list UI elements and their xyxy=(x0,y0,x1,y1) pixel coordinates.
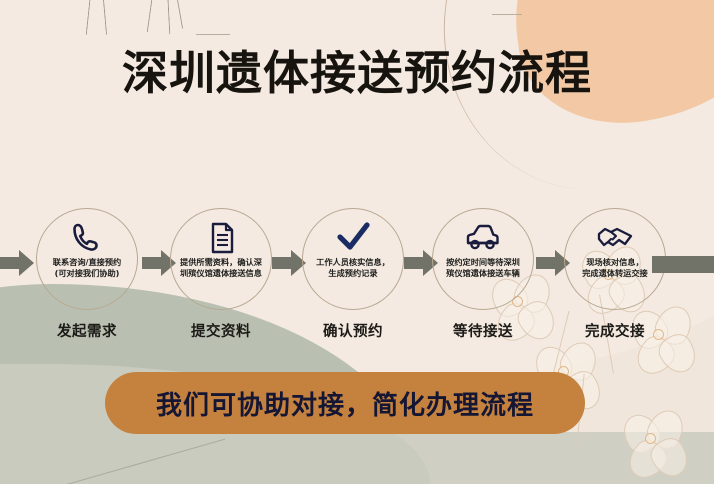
flow-step-desc-line: 联系咨询/直接预约 xyxy=(38,257,136,268)
flow-step-circle: 现场核对信息， 完成遗体转运交接 xyxy=(564,208,666,310)
flow-step-desc-line: 殡仪馆遗体接送车辆 xyxy=(434,268,532,279)
flow-step-label: 提交资料 xyxy=(168,320,274,341)
leaf-icon xyxy=(86,0,112,37)
process-flow: 联系咨询/直接预约 (可对接我们协助) 发起需求 xyxy=(0,208,714,358)
flow-step-circle: 按约定时间等待深圳 殡仪馆遗体接送车辆 xyxy=(432,208,534,310)
dash-mark xyxy=(492,14,522,15)
flow-step-desc: 提供所需资料，确认深 圳殡仪馆遗体接送信息 xyxy=(170,257,272,278)
hairline-divider xyxy=(0,439,225,484)
phone-icon xyxy=(69,222,105,254)
flow-step-desc-line: 完成遗体转运交接 xyxy=(566,268,664,279)
flow-step-label: 发起需求 xyxy=(34,320,140,341)
leaf-icon xyxy=(147,0,179,36)
flow-step-desc-line: 提供所需资料，确认深 xyxy=(172,257,270,268)
flow-step-desc: 现场核对信息， 完成遗体转运交接 xyxy=(564,257,666,278)
car-icon xyxy=(465,222,501,254)
leaf-icon xyxy=(102,0,120,35)
flow-step-circle: 联系咨询/直接预约 (可对接我们协助) xyxy=(36,208,138,310)
flow-arrow xyxy=(0,250,34,276)
cta-banner[interactable]: 我们可协助对接，简化办理流程 xyxy=(105,372,585,434)
leaf-icon xyxy=(167,0,182,34)
flow-step-desc: 按约定时间等待深圳 殡仪馆遗体接送车辆 xyxy=(432,257,534,278)
flow-step-circle: 提供所需资料，确认深 圳殡仪馆遗体接送信息 xyxy=(170,208,272,310)
cta-banner-text: 我们可协助对接，简化办理流程 xyxy=(156,385,534,422)
flow-step-label: 等待接送 xyxy=(430,320,536,341)
flow-step-desc-line: 生成预约记录 xyxy=(304,268,402,279)
flow-step-3[interactable]: 工作人员核实信息， 生成预约记录 确认预约 xyxy=(300,208,406,341)
flow-step-desc-line: (可对接我们协助) xyxy=(38,268,136,279)
flow-step-2[interactable]: 提供所需资料，确认深 圳殡仪馆遗体接送信息 提交资料 xyxy=(168,208,274,341)
page-title: 深圳遗体接送预约流程 xyxy=(0,48,714,99)
flow-step-5[interactable]: 现场核对信息， 完成遗体转运交接 完成交接 xyxy=(562,208,668,341)
sage-bottom-strip xyxy=(0,432,714,484)
flow-step-4[interactable]: 按约定时间等待深圳 殡仪馆遗体接送车辆 等待接送 xyxy=(430,208,536,341)
flow-step-label: 完成交接 xyxy=(562,320,668,341)
flow-step-desc-line: 圳殡仪馆遗体接送信息 xyxy=(172,268,270,279)
flow-step-circle: 工作人员核实信息， 生成预约记录 xyxy=(302,208,404,310)
flow-step-desc-line: 现场核对信息， xyxy=(566,257,664,268)
flow-step-desc-line: 按约定时间等待深圳 xyxy=(434,257,532,268)
flow-step-desc-line: 工作人员核实信息， xyxy=(304,257,402,268)
handshake-icon xyxy=(597,222,633,254)
flow-step-1[interactable]: 联系咨询/直接预约 (可对接我们协助) 发起需求 xyxy=(34,208,140,341)
dash-mark xyxy=(196,34,230,35)
flow-tail-bar xyxy=(652,256,714,273)
checkmark-icon xyxy=(335,222,371,254)
flow-step-label: 确认预约 xyxy=(300,320,406,341)
document-icon xyxy=(203,222,239,254)
flow-step-desc: 工作人员核实信息， 生成预约记录 xyxy=(302,257,404,278)
infographic-poster: 深圳遗体接送预约流程 联系咨询/直接预约 (可对接我们协助) 发起需求 xyxy=(0,0,714,484)
leaf-icon xyxy=(174,0,192,29)
peach-outline-curve xyxy=(428,0,714,205)
flow-step-desc: 联系咨询/直接预约 (可对接我们协助) xyxy=(36,257,138,278)
